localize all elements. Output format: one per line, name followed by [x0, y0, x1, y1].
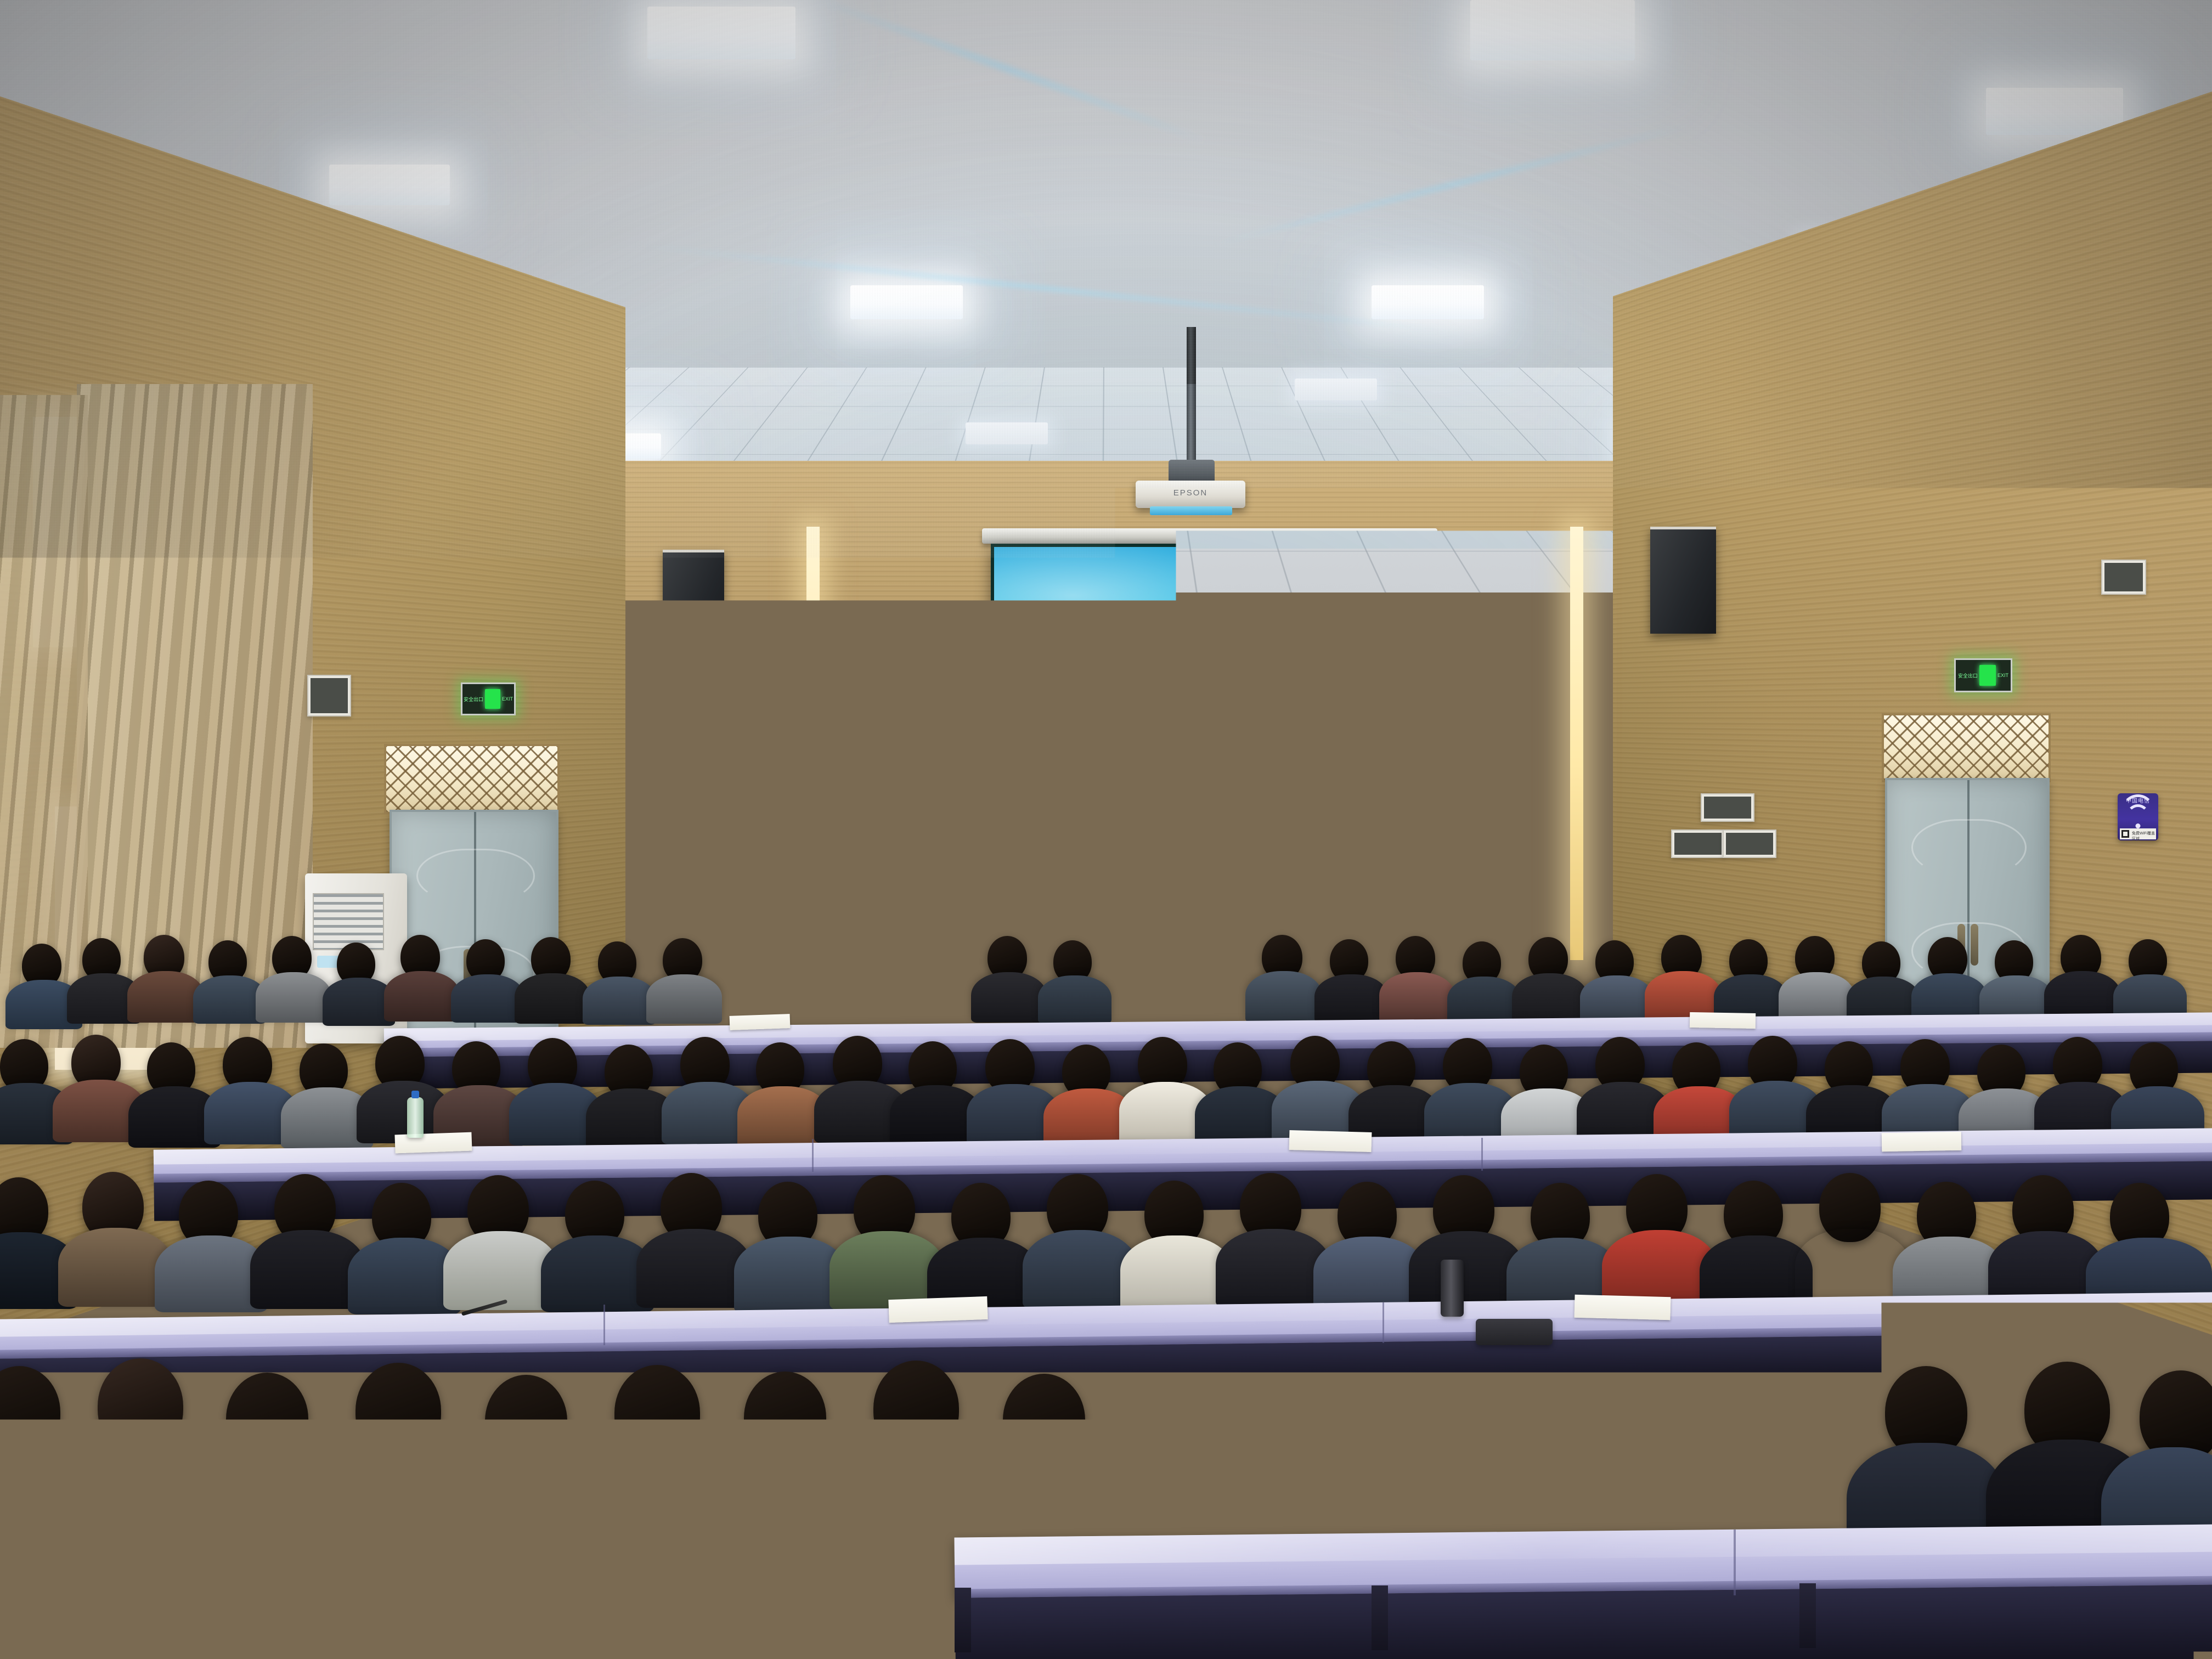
ceiling-light-panel — [329, 165, 450, 205]
desk-joint — [1383, 1302, 1384, 1343]
notebook[interactable] — [394, 1132, 472, 1154]
notebook[interactable] — [730, 1014, 791, 1030]
projector-brand-label: EPSON — [1136, 488, 1245, 498]
ceiling-light-panel — [1986, 88, 2123, 135]
chalk-atom-C: C — [946, 826, 959, 847]
projector[interactable]: EPSON — [1136, 481, 1245, 508]
wall-speaker-left — [663, 550, 724, 651]
door-transom-left — [384, 744, 560, 814]
calligraphy-char-4: 坛 — [654, 819, 691, 854]
exit-pictogram — [1979, 665, 1996, 686]
projection-screen: 过渡 总结 展望 2016级第二学期年级大会 二〇一七年三月十一日 — [991, 544, 1436, 885]
wall-calligraphy: 寰 宇 讲 坛 — [655, 670, 690, 853]
notebook[interactable] — [1289, 1130, 1372, 1152]
notebook[interactable] — [1690, 1012, 1756, 1029]
exit-sign-label-cn: 安全出口 — [1958, 672, 1978, 679]
pencil-case[interactable] — [1476, 1319, 1553, 1345]
chalk-note-imsenias: Imsenias — [1438, 815, 1497, 833]
door-transom-right — [1882, 713, 2051, 782]
wifi-sub-label: 免费WiFi覆盖区域 — [2132, 831, 2156, 840]
exit-pictogram — [485, 689, 500, 709]
chalk-atom-H: H — [923, 796, 937, 817]
ceiling-light-panel — [850, 285, 963, 319]
wifi-qr-code: 免费WiFi覆盖区域 — [2120, 828, 2156, 839]
exit-sign-label-en: EXIT — [1997, 673, 2008, 678]
projector-pole-upper — [1187, 327, 1196, 387]
slide-headline: 过渡 总结 展望 — [994, 744, 1433, 784]
ceiling-light-panel — [966, 422, 1048, 444]
chalk-atom-H: H — [968, 792, 982, 812]
electrical-panel — [1671, 830, 1725, 858]
podium-paper[interactable] — [919, 969, 953, 979]
presenter-face — [1187, 879, 1222, 926]
exit-sign-label-en: EXIT — [502, 696, 513, 702]
electrical-panel — [1701, 793, 1754, 822]
wall-control-box[interactable] — [2101, 560, 2146, 595]
qr-glyph — [2121, 830, 2129, 838]
desk-joint — [1734, 1530, 1736, 1595]
slide-content: 过渡 总结 展望 2016级第二学期年级大会 二〇一七年三月十一日 — [994, 547, 1433, 882]
ceiling-light-panel — [1470, 0, 1635, 60]
desk-joint — [812, 1139, 814, 1172]
chalk-underline — [1437, 842, 1497, 843]
calligraphy-char-2: 宇 — [654, 720, 691, 754]
wall-speaker-right — [1650, 527, 1716, 634]
exit-sign-right: 安全出口 EXIT — [1954, 658, 2012, 692]
ceiling-light-panel — [647, 7, 795, 59]
notebook[interactable] — [888, 1296, 988, 1323]
wall-control-box[interactable] — [307, 675, 351, 716]
electrical-panel — [1723, 830, 1776, 858]
calligraphy-char-1: 寰 — [654, 670, 691, 704]
projection-screen-roller[interactable] — [982, 528, 1437, 544]
slide-subtitle: 2016级第二学期年级大会 — [994, 803, 1433, 825]
wall-accent-light — [806, 527, 820, 960]
chalk-note-dota: dota — [1439, 757, 1478, 782]
desk-joint — [1481, 1138, 1483, 1171]
door-panel-motif — [416, 849, 535, 902]
desk-joint — [603, 1305, 605, 1345]
chalk-underline — [1437, 788, 1498, 789]
notebook[interactable] — [1574, 1295, 1671, 1321]
thermos-flask[interactable] — [1441, 1260, 1464, 1317]
projector-pole — [1187, 384, 1196, 466]
wall-accent-light — [1570, 527, 1583, 960]
student-audience: WISB 5 — [0, 982, 2212, 1659]
slide-date: 二〇一七年三月十一日 — [1294, 838, 1398, 852]
ceiling-light-panel — [1295, 379, 1377, 400]
water-bottle[interactable] — [407, 1097, 424, 1138]
wifi-icon-dot — [2136, 823, 2141, 828]
ceiling-light-panel — [1372, 285, 1484, 319]
presenter-hand — [1183, 949, 1197, 966]
projector-lens-glow — [1150, 506, 1232, 515]
door-handle[interactable] — [1971, 924, 1978, 966]
floor-riser — [0, 1629, 2212, 1659]
exit-sign-left: 安全出口 EXIT — [461, 682, 516, 715]
ac-grille — [313, 893, 384, 950]
exit-sign-label-cn: 安全出口 — [464, 696, 483, 703]
notebook[interactable] — [1882, 1132, 1962, 1152]
wifi-sticker: 中国电信 免费WiFi覆盖区域 — [2118, 793, 2158, 840]
calligraphy-char-3: 讲 — [654, 769, 691, 804]
lecture-hall-photo: 寰 宇 讲 坛 安全出口 EXIT 安全出口 EXIT 中国电信 免费WiFi覆… — [0, 0, 2212, 1659]
door-panel-motif — [1911, 819, 2027, 876]
